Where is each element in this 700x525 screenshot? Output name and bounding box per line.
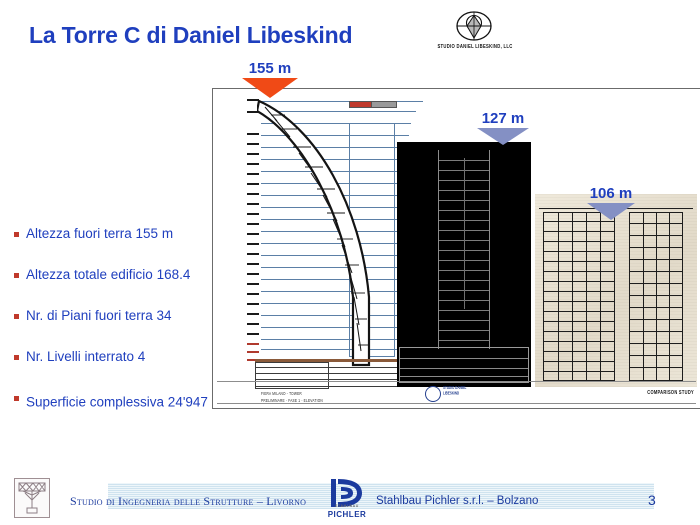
bullet-square-icon xyxy=(14,232,19,237)
tower-a-elevation xyxy=(543,212,615,381)
base-block xyxy=(399,347,529,383)
bullet-square-icon xyxy=(14,273,19,278)
panel-logo-icon xyxy=(425,386,441,402)
bullet-list: Altezza fuori terra 155 m Altezza totale… xyxy=(8,226,240,436)
tower-shaft xyxy=(438,150,490,349)
bullet-text: Nr. Livelli interrato 4 xyxy=(26,349,145,364)
footer-studio-text: Studio di Ingegneria delle Strutture – L… xyxy=(70,494,306,509)
studio-ingegneria-logo xyxy=(14,478,50,518)
panel-logo: STUDIO DANIEL LIBESKIND xyxy=(425,385,495,403)
height-value: 127 m xyxy=(477,110,529,127)
comparison-study-caption: COMPARISON STUDY xyxy=(647,389,694,396)
height-callout-155: 155 m xyxy=(242,60,298,98)
bullet-text: Altezza totale edificio 168.4 xyxy=(26,267,190,282)
height-value: 106 m xyxy=(587,185,635,202)
bullet-square-icon xyxy=(14,396,19,401)
bullet-text: Superficie complessiva 24'947 m xyxy=(26,395,223,410)
list-item: Altezza totale edificio 168.4 xyxy=(8,267,240,283)
libeskind-logo-caption: STUDIO DANIEL LIBESKIND, LLC xyxy=(420,43,530,49)
list-item: Nr. di Piani fuori terra 34 xyxy=(8,308,240,324)
center-elevation-drawing xyxy=(397,142,531,387)
list-item: Nr. Livelli interrato 4 xyxy=(8,349,240,365)
right-comparison-drawing xyxy=(535,194,697,387)
page-title: La Torre C di Daniel Libeskind xyxy=(29,22,352,49)
height-callout-106: 106 m xyxy=(587,185,635,220)
pichler-name-text: PICHLER xyxy=(325,510,369,519)
bullet-square-icon xyxy=(14,355,19,360)
down-arrow-icon xyxy=(242,78,298,98)
curved-tower-silhouette xyxy=(257,97,407,387)
height-callout-127: 127 m xyxy=(477,110,529,145)
footer-pichler-text: Stahlbau Pichler s.r.l. – Bolzano xyxy=(376,495,538,507)
down-arrow-icon xyxy=(587,203,635,220)
slide-canvas: La Torre C di Daniel Libeskind STUDIO DA… xyxy=(0,0,700,525)
drawing-panel: FIERA MILANO - TOWER PRELIMINARE - FASE … xyxy=(212,88,700,409)
bullet-text: Nr. di Piani fuori terra 34 xyxy=(26,308,172,323)
tower-b-elevation xyxy=(629,212,683,381)
page-number: 3 xyxy=(648,492,656,508)
pichler-sub-text: STAHLBAU xyxy=(325,504,369,508)
bullet-text: Altezza fuori terra 155 m xyxy=(26,226,173,241)
bullet-square-icon xyxy=(14,314,19,319)
height-value: 155 m xyxy=(242,60,298,77)
pichler-logo: STAHLBAU PICHLER xyxy=(325,478,369,522)
left-elevation-drawing: FIERA MILANO - TOWER PRELIMINARE - FASE … xyxy=(231,91,423,391)
panel-logo-text: STUDIO DANIEL LIBESKIND xyxy=(443,386,466,396)
list-item: Superficie complessiva 24'947 m2 xyxy=(8,390,240,411)
down-arrow-icon xyxy=(477,128,529,145)
vault-tree-icon xyxy=(18,482,46,514)
studio-daniel-libeskind-logo: STUDIO DANIEL LIBESKIND, LLC xyxy=(420,10,530,58)
libeskind-emblem-icon xyxy=(448,10,500,42)
list-item: Altezza fuori terra 155 m xyxy=(8,226,240,242)
